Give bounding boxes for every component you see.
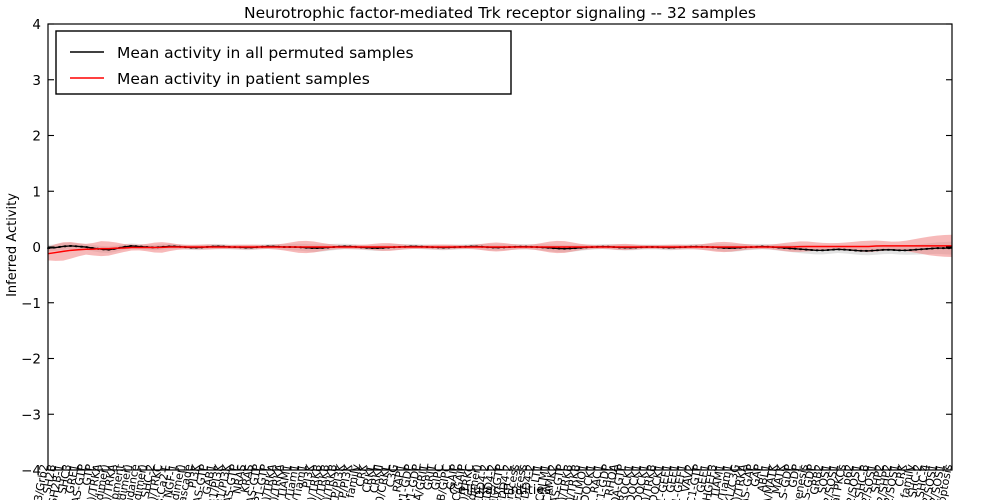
legend-label-permuted: Mean activity in all permuted samples: [117, 44, 414, 62]
y-tick-label: 1: [32, 184, 41, 200]
y-axis-label: Inferred Activity: [5, 193, 20, 297]
chart-root: Neurotrophic factor-mediated Trk recepto…: [0, 0, 1000, 500]
y-tick-label: 0: [32, 240, 41, 256]
chart-title: Neurotrophic factor-mediated Trk recepto…: [244, 4, 756, 22]
inferred-activity-line-chart: Neurotrophic factor-mediated Trk recepto…: [0, 0, 1000, 500]
y-tick-label: −1: [21, 296, 41, 312]
x-axis-tick-labels: SHC3-3/Grb2SH2BSH2B-1SHC3GRF1RAS-GTPGTPN…: [26, 462, 955, 500]
y-tick-label: 4: [32, 17, 41, 33]
chart-legend: Mean activity in all permuted samples Me…: [56, 31, 511, 94]
y-tick-label: 2: [32, 129, 41, 145]
y-tick-label: 3: [32, 73, 41, 89]
legend-label-patient: Mean activity in patient samples: [117, 70, 370, 88]
y-tick-label: −3: [21, 407, 41, 423]
y-tick-label: −2: [21, 352, 41, 368]
